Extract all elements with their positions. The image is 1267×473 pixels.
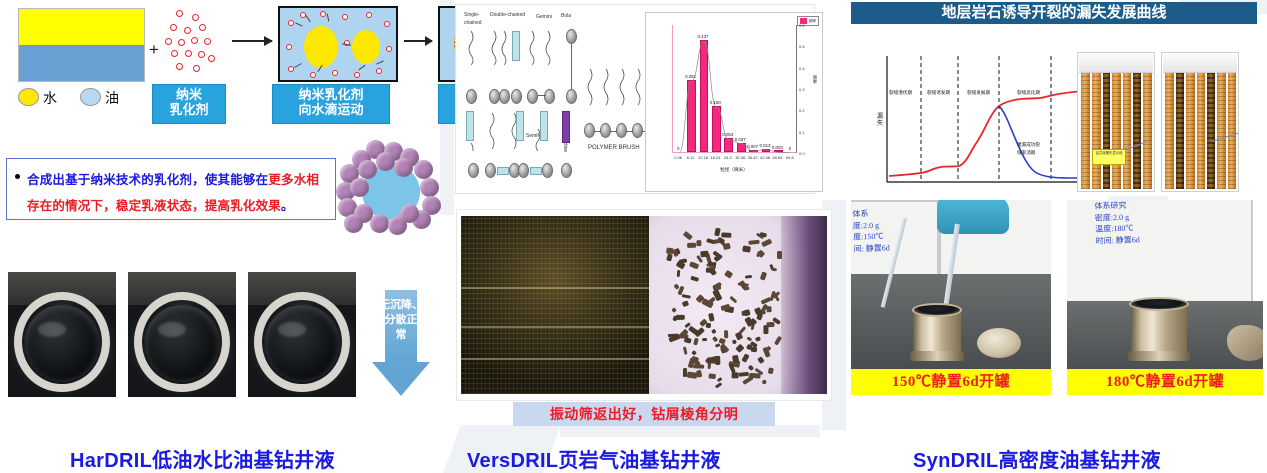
process-arrow-2-icon xyxy=(404,40,432,42)
syndril-chart-body: 漏 失 裂缝潜伏期 裂缝诱发期 裂缝发展期 裂缝恶化期 xyxy=(851,24,1257,196)
photo-drill-cuttings xyxy=(649,216,827,394)
label-gemini: Gemini xyxy=(536,14,552,20)
cutting-chip xyxy=(724,330,728,338)
histogram-bar-label: 0.003 xyxy=(771,145,783,150)
cutting-chip xyxy=(711,328,717,334)
phase-label-4: 裂缝恶化期 xyxy=(1017,90,1040,96)
legend-swatch-oil xyxy=(80,88,101,106)
histogram-y-tick: 0.6 xyxy=(799,23,805,28)
cutting-chip xyxy=(735,344,744,353)
cutting-chip xyxy=(686,372,697,379)
nano-emulsifier-migration-box xyxy=(278,6,398,82)
cutting-chip xyxy=(683,368,687,377)
label-polymer-brush: POLYMER BRUSH xyxy=(588,145,640,151)
nano-emulsifier-dots xyxy=(163,8,225,80)
nanoparticle-cluster-illustration xyxy=(336,140,444,240)
process-arrow-1-icon xyxy=(232,40,272,42)
caption-150c: 150℃静置6d开罐 xyxy=(851,369,1051,395)
cutting-chip xyxy=(714,382,722,389)
summary-line2-tail: 。 xyxy=(281,199,294,213)
result-down-arrow: 无沉降、 分散正 常 xyxy=(372,290,430,396)
log-callout-1: 钻井液漏失显示段 xyxy=(1092,149,1126,165)
legend-label-water: 水 xyxy=(43,88,57,108)
arrow-text-line1: 无沉降、 xyxy=(372,298,430,313)
histogram-bar-label: 0.037 xyxy=(734,137,746,142)
histogram-y-tick: 0.5 xyxy=(799,44,805,49)
phase-label-2: 裂缝诱发期 xyxy=(927,90,950,96)
bullet-dot-icon xyxy=(15,174,20,179)
cutting-chip xyxy=(743,246,751,253)
label-double-chained: Double-chained xyxy=(490,12,525,18)
well-log-panel-2: 钻井液漏失显示段 xyxy=(1161,52,1239,192)
summary-line1-blue: 合成出基于纳米技术的乳化剂，使其能够在 xyxy=(27,173,268,187)
water-droplet-small xyxy=(352,30,380,64)
histogram-y-tick: 0.3 xyxy=(799,87,805,92)
cutting-chip xyxy=(681,294,690,299)
summary-line2-red: 存在的情况下，稳定乳液状态，提高乳化效果 xyxy=(27,199,281,213)
cutting-chip xyxy=(751,347,757,352)
curve-annotation-line2: 缝渐消期 xyxy=(1017,150,1035,157)
cutting-chip xyxy=(744,309,751,317)
cutting-chip xyxy=(694,365,705,369)
cutting-chip xyxy=(767,322,775,328)
aging-cell-canister-2 xyxy=(1131,304,1187,356)
histogram-y-tick: 0.0 xyxy=(799,151,805,156)
cutting-chip xyxy=(729,296,737,303)
panel-versdril: Single- chained Double-chained Gemini Bo… xyxy=(455,0,845,473)
histogram-y-tick: 0.4 xyxy=(799,66,805,71)
histogram-y-tick: 0.2 xyxy=(799,108,805,113)
legend-label-oil: 油 xyxy=(105,88,119,108)
cutting-chip xyxy=(735,332,743,341)
cutting-chip xyxy=(677,270,680,277)
arrow-text-line2: 分散正 xyxy=(372,313,430,328)
cutting-chip xyxy=(744,275,752,279)
slide-canvas: + xyxy=(0,0,1267,473)
histogram-bar-label: 0 xyxy=(672,146,684,151)
cutting-chip xyxy=(768,367,774,374)
cutting-chip xyxy=(693,338,698,345)
phase-legend: 水 油 xyxy=(18,86,218,110)
cutting-chip xyxy=(682,301,689,308)
cutting-chip xyxy=(732,339,737,344)
histogram-bar-label: 0 xyxy=(784,146,796,151)
histogram-overlay-curve xyxy=(673,25,797,153)
cutting-chip xyxy=(738,282,749,286)
surfactant-row2-svg xyxy=(462,111,592,151)
oil-phase-layer xyxy=(19,45,144,81)
cutting-chip xyxy=(690,276,698,282)
histogram-bar-label: 0.281 xyxy=(684,74,696,79)
cutting-chip xyxy=(760,271,767,280)
panel-title-versdril: VersDRIL页岩气油基钻井液 xyxy=(467,444,721,473)
chart-right-axis xyxy=(796,25,797,153)
panel-title-hardril: HarDRIL低油水比油基钻井液 xyxy=(70,444,335,473)
histogram-bar-label: 0.180 xyxy=(709,100,721,105)
whiteboard-text-150c: 体系 度:2.0 g 度:150℃ 间: 静置6d xyxy=(852,207,890,255)
histogram-bar-label: 0.013 xyxy=(759,143,771,148)
chart-plot-area xyxy=(672,25,796,153)
cutting-chip xyxy=(667,254,674,262)
cutting-chip xyxy=(755,337,762,343)
cutting-chip xyxy=(741,354,749,363)
panel-title-syndril: SynDRIL高密度油基钻井液 xyxy=(913,444,1161,473)
histogram-bar-label: 0.053 xyxy=(722,132,734,137)
cutting-chip xyxy=(757,356,765,364)
cutting-chip xyxy=(762,380,767,385)
cutting-chip xyxy=(688,242,697,247)
oil-water-phase-box xyxy=(18,8,145,82)
particle-size-histogram: 频率 粒径（微米） 频率 00.060.2816.120.43712.180.1… xyxy=(645,12,823,192)
aging-cell-canister xyxy=(913,310,961,356)
label-single-chained-l1: Single- xyxy=(464,12,480,18)
field-photos-versdril xyxy=(457,210,831,400)
cutting-chip xyxy=(777,251,782,259)
whiteboard-text-180c: 体系研究 密度:2.0 g 温度:180℃ 时间: 静置6d xyxy=(1094,200,1140,247)
cutting-chip xyxy=(738,372,748,376)
label-migration: 纳米乳化剂 向水滴运动 xyxy=(272,84,390,124)
legend-swatch-water xyxy=(18,88,39,106)
photo-mud-jar-3 xyxy=(248,272,356,397)
bola-chain xyxy=(571,43,572,89)
photo-mud-jar-2 xyxy=(128,272,236,397)
gemini-bridge xyxy=(538,95,546,96)
summary-line1-red: 更多水相 xyxy=(268,173,319,187)
well-log-panel-1: 钻井液漏失显示段 xyxy=(1077,52,1155,192)
histogram-y-tick: 0.1 xyxy=(799,130,805,135)
label-bola: Bola xyxy=(561,13,571,19)
curve-annotation-line1: 堵漏成功裂 xyxy=(1017,142,1040,149)
versdril-photo-caption: 振动筛返出好，钻屑棱角分明 xyxy=(513,402,775,426)
cutting-chip xyxy=(772,267,777,270)
cutting-chip xyxy=(708,313,714,322)
photo-mud-jar-1 xyxy=(8,272,116,397)
plus-sign: + xyxy=(149,40,159,60)
chart-legend-label: 频率 xyxy=(809,19,816,24)
canister-lid xyxy=(977,328,1021,358)
chart-x-axis-title: 粒径（微米） xyxy=(672,167,796,173)
loss-development-curve-svg xyxy=(873,50,1101,196)
label-migration-line1: 纳米乳化剂 xyxy=(275,88,387,103)
cutting-chip xyxy=(683,337,691,344)
cutting-chip xyxy=(709,374,716,380)
cutting-chip xyxy=(683,231,694,241)
chart-y-axis-title: 频率 xyxy=(812,75,818,84)
label-migration-line2: 向水滴运动 xyxy=(275,103,387,118)
cutting-chip xyxy=(721,233,731,238)
cutting-chip xyxy=(744,287,750,291)
histogram-bar-label: 0.437 xyxy=(697,34,709,39)
phase-label-1: 裂缝潜伏期 xyxy=(889,90,912,96)
photo-shale-shaker xyxy=(461,216,649,394)
cutting-chip xyxy=(733,354,740,362)
histogram-bar-label: 0.007 xyxy=(746,144,758,149)
panel-hardril: + xyxy=(0,0,450,473)
cutting-chip xyxy=(697,240,702,246)
cutting-chip xyxy=(712,239,720,245)
cutting-chip xyxy=(672,308,678,314)
caption-180c: 180℃静置6d开罐 xyxy=(1067,369,1263,395)
cutting-chip xyxy=(761,239,772,248)
cutting-chip xyxy=(683,347,687,355)
label-single-chained-l2: chained xyxy=(464,20,482,26)
phase-label-3: 裂缝发展期 xyxy=(967,90,990,96)
cutting-chip xyxy=(723,243,731,250)
water-phase-layer xyxy=(19,9,144,45)
cutting-chip xyxy=(761,296,772,304)
cutting-chip xyxy=(697,369,703,377)
cutting-chip xyxy=(749,240,760,245)
cutting-chip xyxy=(705,322,711,328)
photo-lab-150c: 体系 度:2.0 g 度:150℃ 间: 静置6d 150℃静置6d开罐 xyxy=(851,200,1051,395)
cutting-chip xyxy=(702,338,707,341)
water-droplet-large xyxy=(304,26,338,68)
gloved-hand xyxy=(937,200,1009,234)
panel-syndril: 地层岩石诱导开裂的漏失发展曲线 漏 失 裂缝潜伏期 xyxy=(845,0,1267,473)
syndril-section-header: 地层岩石诱导开裂的漏失发展曲线 xyxy=(851,2,1257,24)
cutting-chip xyxy=(731,372,738,378)
cutting-chip xyxy=(714,227,720,235)
cutting-chip xyxy=(725,270,734,278)
summary-callout-box: 合成出基于纳米技术的乳化剂，使其能够在更多水相 存在的情况下，稳定乳液状态，提高… xyxy=(6,158,336,220)
cutting-chip xyxy=(695,331,700,337)
down-arrow-head-icon xyxy=(372,362,430,396)
histogram-x-tick: 54.6 xyxy=(781,155,799,160)
arrow-text-line3: 常 xyxy=(372,328,430,343)
cutting-chip xyxy=(712,336,718,342)
photo-lab-180c: 体系研究 密度:2.0 g 温度:180℃ 时间: 静置6d 180℃静置6d开… xyxy=(1067,200,1263,395)
